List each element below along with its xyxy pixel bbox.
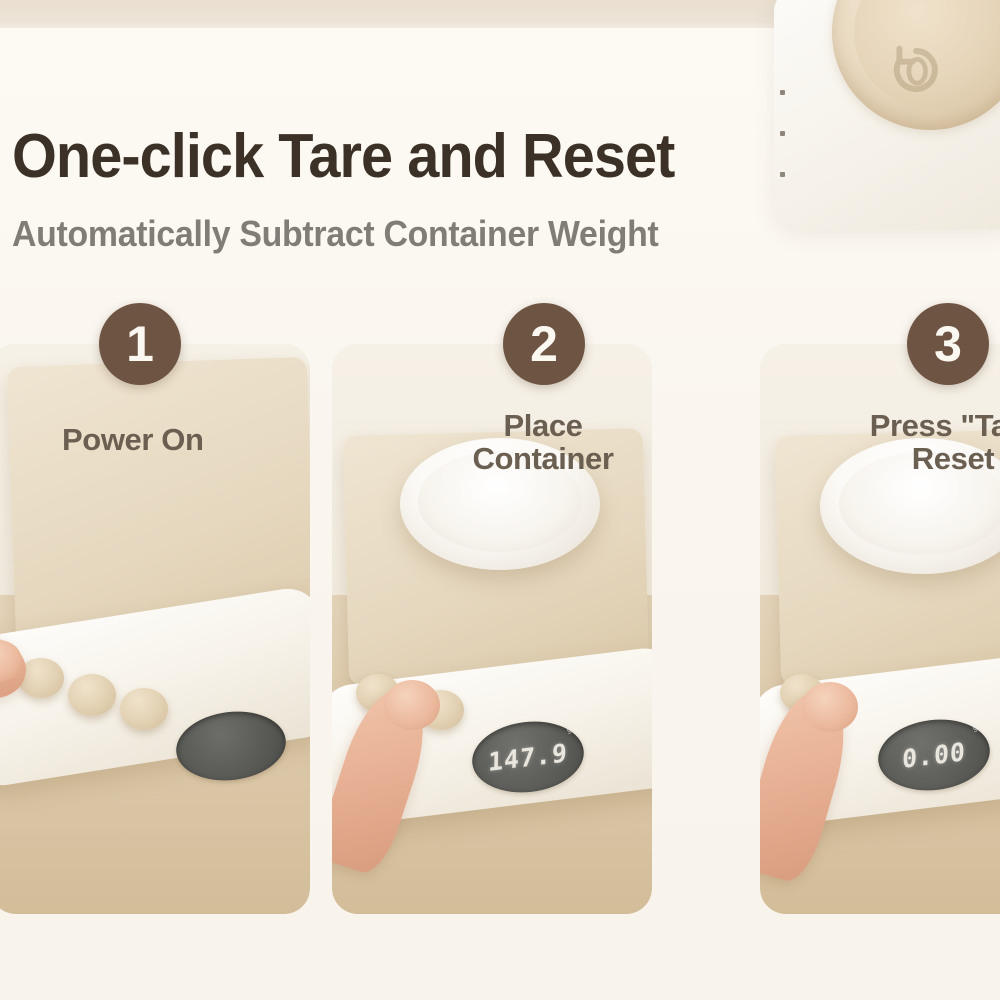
- scale-button-2: [68, 674, 116, 716]
- step-label-3-line-1: Press "Tare: [828, 410, 1000, 443]
- tare-button-closeup-photo: [774, 0, 1000, 230]
- lcd-unit-step-2: g: [566, 724, 573, 735]
- inset-decorative-dots: [780, 90, 794, 210]
- step-label-1: Power On: [62, 424, 204, 457]
- scale-button-3: [120, 688, 168, 730]
- scale-display-step-2: 147.9 g: [468, 715, 588, 798]
- step-label-3: Press "Tare Reset: [828, 410, 1000, 475]
- scale-display-step-1: [172, 706, 289, 787]
- lcd-value-step-1: [176, 706, 286, 787]
- lcd-unit-step-3: g: [972, 722, 979, 733]
- step-badge-1: 1: [99, 303, 181, 385]
- page-subtitle: Automatically Subtract Container Weight: [12, 216, 764, 252]
- step-label-1-line-1: Power On: [62, 424, 204, 457]
- user-fingertip-step-2: [384, 680, 440, 730]
- tare-reset-circular-arrow-icon: [878, 32, 954, 108]
- step-label-3-line-2: Reset: [828, 443, 1000, 476]
- step-label-2: Place Container: [438, 410, 648, 475]
- user-fingertip-step-3: [802, 682, 858, 732]
- scale-display-step-3: 0.00 g: [874, 713, 994, 796]
- step-badge-3: 3: [907, 303, 989, 385]
- page-title: One-click Tare and Reset: [12, 126, 747, 188]
- step-label-2-line-1: Place: [438, 410, 648, 443]
- step-label-2-line-2: Container: [438, 443, 648, 476]
- step-badge-2: 2: [503, 303, 585, 385]
